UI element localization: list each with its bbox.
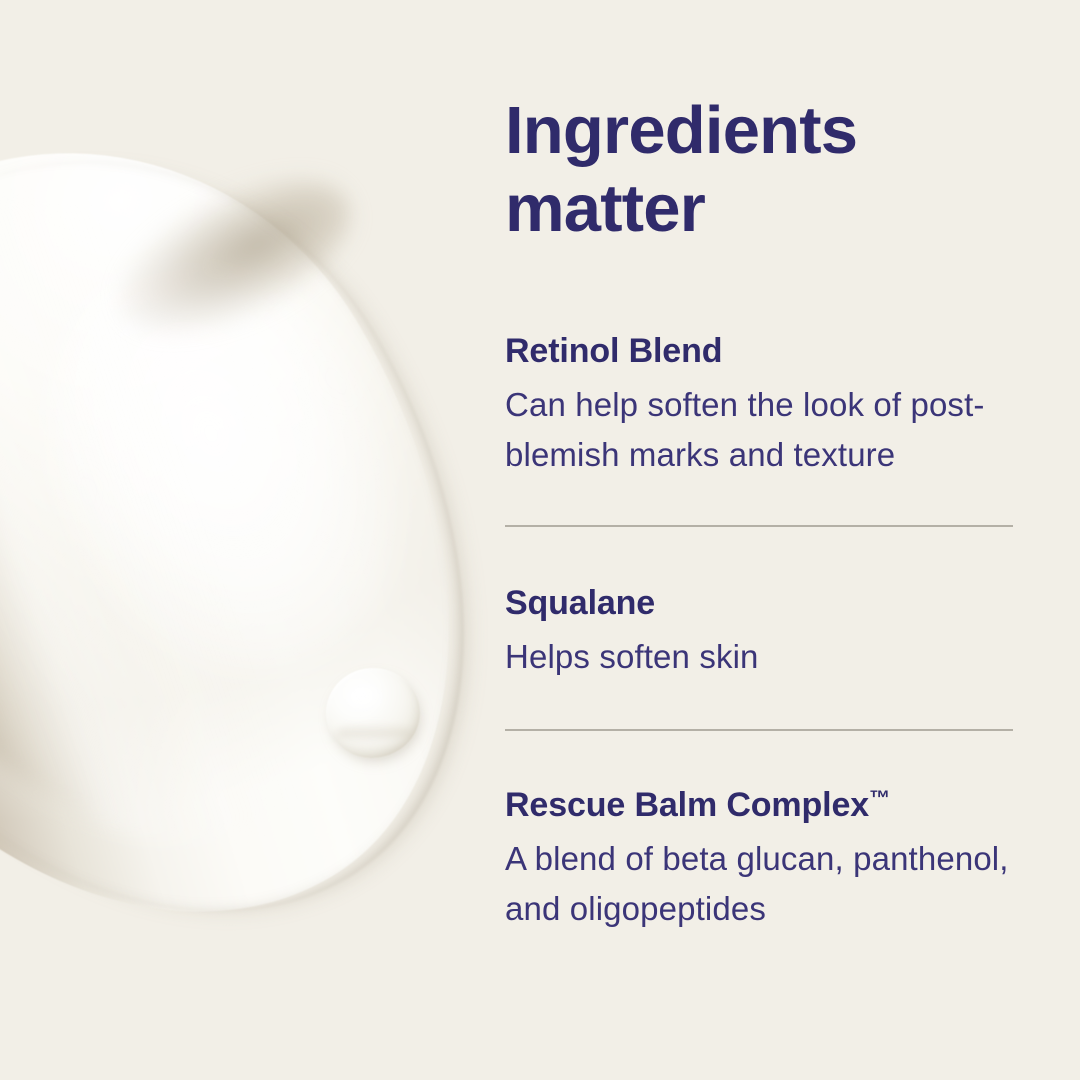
trademark-symbol: ™ — [869, 787, 890, 810]
cream-droplet-highlight — [345, 683, 385, 713]
ingredient-name-text: Rescue Balm Complex — [505, 786, 869, 824]
ingredient-item-retinol-blend: Retinol Blend Can help soften the look o… — [505, 330, 1025, 480]
cream-droplet-band — [336, 724, 412, 744]
ingredient-name: Retinol Blend — [505, 330, 1025, 374]
ingredient-name: Squalane — [505, 582, 1025, 626]
ingredient-item-rescue-balm-complex: Rescue Balm Complex™ A blend of beta glu… — [505, 784, 1025, 934]
ingredient-item-squalane: Squalane Helps soften skin — [505, 582, 1025, 682]
ingredient-name-text: Squalane — [505, 584, 655, 622]
section-divider — [505, 729, 1013, 731]
ingredient-description: Can help soften the look of post-blemish… — [505, 380, 1025, 480]
cream-texture-image — [0, 0, 500, 1080]
cream-droplet-shape — [326, 668, 420, 758]
section-divider — [505, 525, 1013, 527]
ingredient-name: Rescue Balm Complex™ — [505, 784, 1025, 828]
ingredient-description: Helps soften skin — [505, 632, 1025, 682]
page-title: Ingredients matter — [505, 92, 1025, 249]
ingredient-description: A blend of beta glucan, panthenol, and o… — [505, 834, 1025, 934]
ingredients-content: Ingredients matter Retinol Blend Can hel… — [505, 0, 1025, 1080]
ingredient-name-text: Retinol Blend — [505, 332, 722, 370]
ingredients-infographic: Ingredients matter Retinol Blend Can hel… — [0, 0, 1080, 1080]
